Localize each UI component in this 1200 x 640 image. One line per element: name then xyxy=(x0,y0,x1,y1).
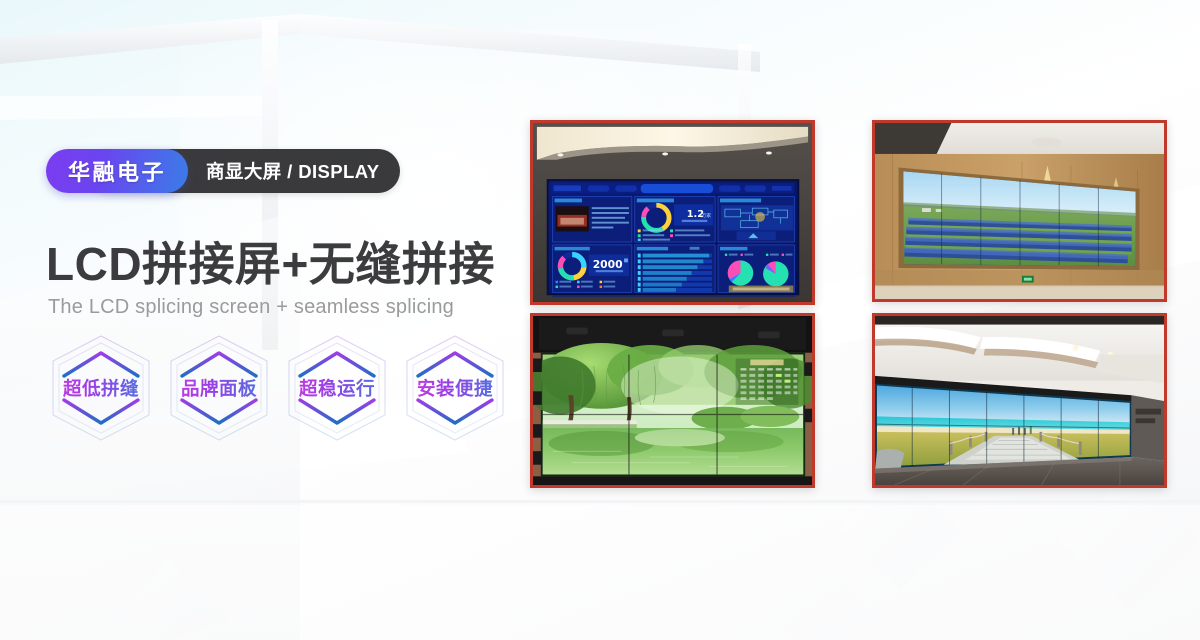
svg-text:2000: 2000 xyxy=(593,258,623,271)
calendar-overlay xyxy=(736,358,799,404)
svg-text:万家: 万家 xyxy=(701,212,711,219)
dashboard-panel-intro xyxy=(553,197,632,242)
banner-content: 华融电子 商显大屏 / DISPLAY LCD拼接屏+无缝拼接 The LCD … xyxy=(46,0,566,640)
brand-pill: 华融电子 xyxy=(46,149,188,193)
feature-list: 超低拼缝 品牌面板 超稳运行 xyxy=(46,332,510,444)
photo-control-room-dashboard: 1.2 万家 xyxy=(530,120,815,305)
dashboard-panel-enterprise: 1.2 万家 xyxy=(635,197,715,242)
dashboard-panel-bars xyxy=(635,245,715,292)
feature-item: 超稳运行 xyxy=(282,332,392,444)
feature-label: 安装便捷 xyxy=(400,332,510,444)
subheadline: The LCD splicing screen + seamless splic… xyxy=(48,296,454,319)
brand-name: 华融电子 xyxy=(68,155,166,187)
category-label: 商显大屏 / DISPLAY xyxy=(206,158,380,184)
feature-label: 品牌面板 xyxy=(164,332,274,444)
feature-item: 品牌面板 xyxy=(164,332,274,444)
feature-item: 安装便捷 xyxy=(400,332,510,444)
headline: LCD拼接屏+无缝拼接 xyxy=(46,228,495,294)
dashboard-panel-area: 2000 xyxy=(553,245,632,292)
photo-beach-boardwalk-video-wall xyxy=(872,313,1167,488)
photo-park-landscape-video-wall xyxy=(530,313,815,488)
feature-label: 超稳运行 xyxy=(282,332,392,444)
promo-banner: 华融电子 商显大屏 / DISPLAY LCD拼接屏+无缝拼接 The LCD … xyxy=(0,0,1200,640)
photo-solar-farm-video-wall xyxy=(872,120,1167,302)
feature-item: 超低拼缝 xyxy=(46,332,156,444)
dashboard-panel-chain xyxy=(718,197,794,242)
dashboard-header xyxy=(552,183,795,194)
dashboard-panel-pies xyxy=(718,245,794,292)
feature-label: 超低拼缝 xyxy=(46,332,156,444)
brand-badge-row: 华融电子 商显大屏 / DISPLAY xyxy=(46,149,400,193)
